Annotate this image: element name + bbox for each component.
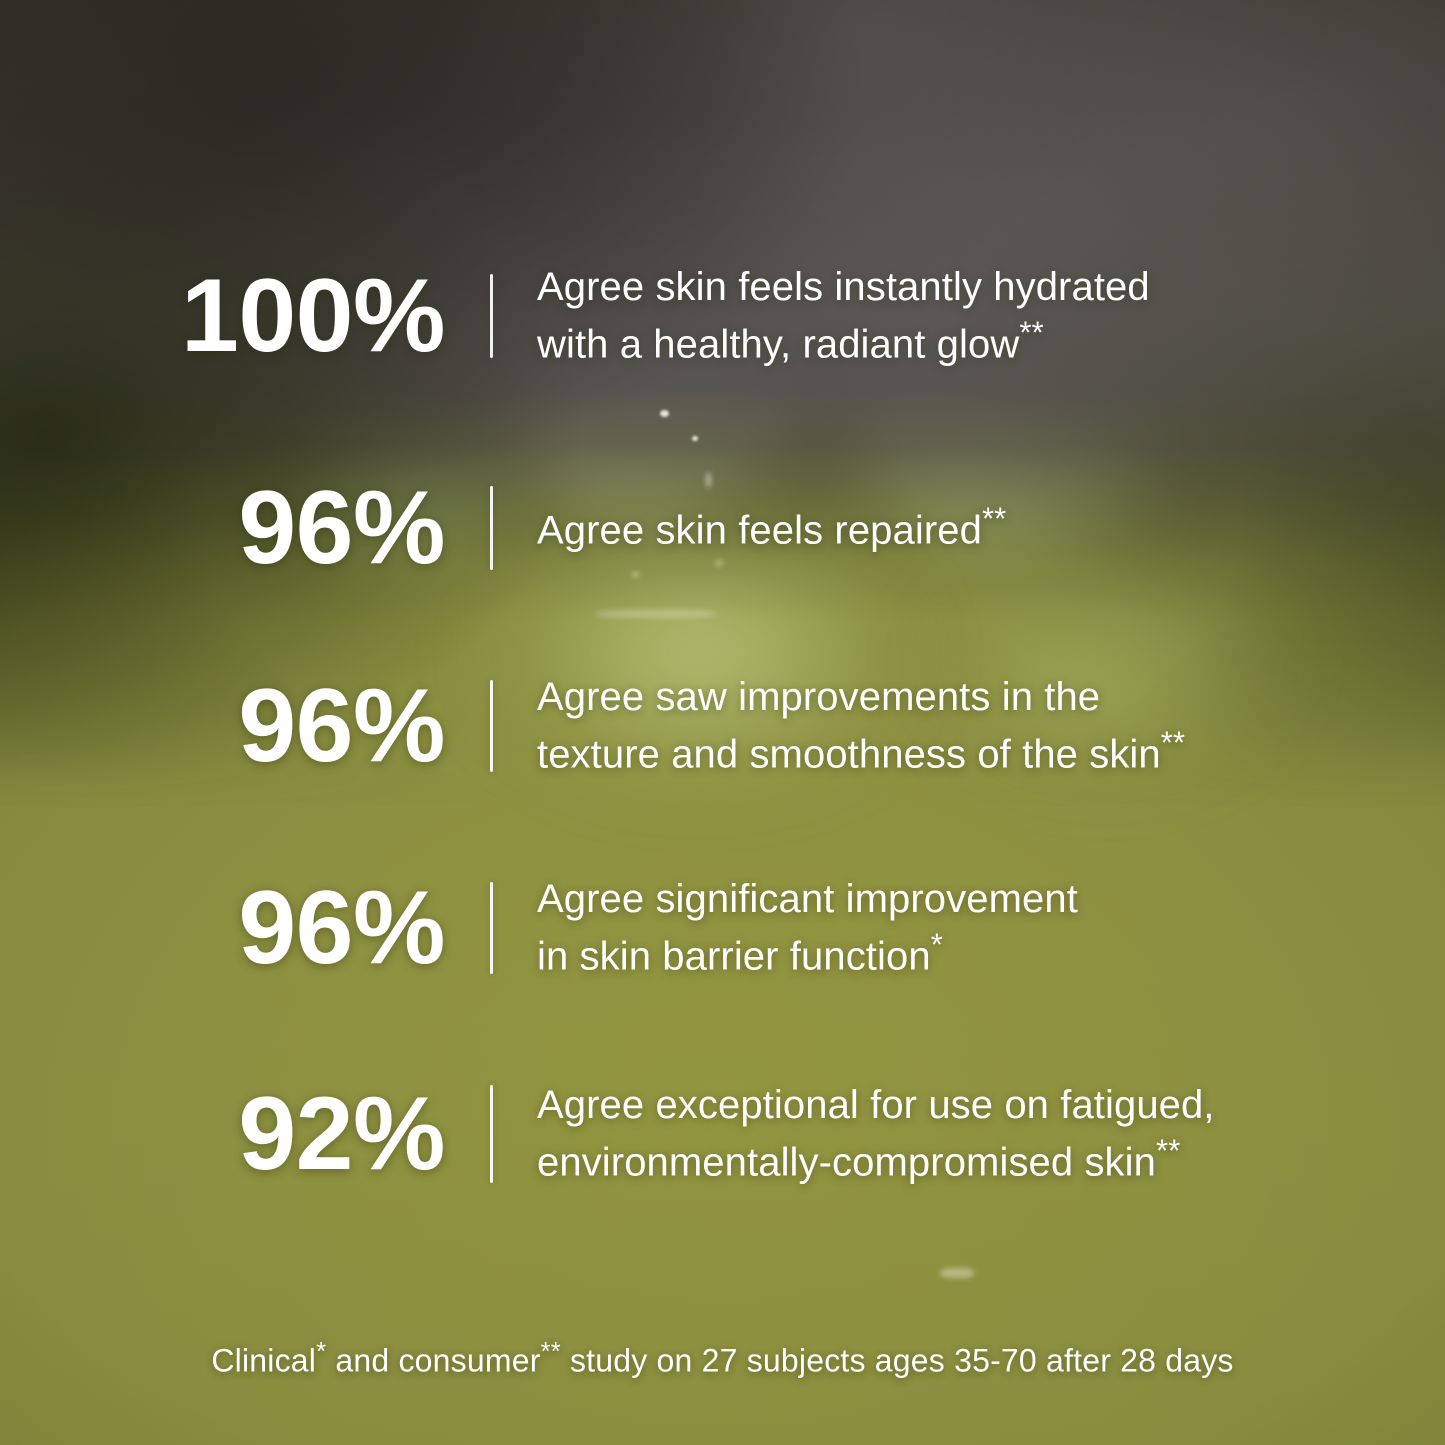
infographic-canvas: 100% Agree skin feels instantly hydrated… [0, 0, 1445, 1445]
stat-claim-text: Agree saw improvements in thetexture and… [537, 672, 1337, 781]
stat-percent-value: 92% [0, 1082, 445, 1186]
stat-percent-value: 96% [0, 476, 445, 580]
footnote-clinical-label: Clinical [211, 1342, 316, 1378]
stat-claim-line-2: environmentally-compromised skin [537, 1140, 1156, 1184]
stat-claim-footnote-marker: ** [1019, 315, 1043, 350]
stat-row: 96% Agree significant improvementin skin… [0, 874, 1445, 982]
footnote-detail-text: study on 27 subjects ages 35-70 after 28… [561, 1342, 1234, 1378]
stat-claim-line-1: Agree skin feels instantly hydrated [537, 265, 1150, 309]
stat-divider-line [490, 274, 493, 358]
stat-claim-line-1: Agree significant improvement [537, 877, 1078, 921]
stat-row: 100% Agree skin feels instantly hydrated… [0, 262, 1445, 370]
stat-claim-footnote-marker: ** [1161, 725, 1185, 760]
footnote-consumer-marker: ** [541, 1338, 561, 1366]
stat-divider-line [490, 882, 493, 974]
stat-claim-line-2: with a healthy, radiant glow [537, 322, 1019, 366]
footnote-middle-text: and consumer [326, 1342, 540, 1378]
stat-divider-line [490, 1085, 493, 1183]
footnote-clinical-marker: * [316, 1338, 326, 1366]
stat-claim-text: Agree significant improvementin skin bar… [537, 874, 1337, 983]
claims-content: 100% Agree skin feels instantly hydrated… [0, 0, 1445, 1445]
stat-divider-line [490, 486, 493, 570]
stat-claim-footnote-marker: * [931, 927, 943, 962]
stat-claim-line-1: Agree exceptional for use on fatigued, [537, 1083, 1215, 1127]
stat-divider-line [490, 680, 493, 772]
stat-percent-value: 96% [0, 876, 445, 980]
stat-claim-footnote-marker: ** [1156, 1133, 1180, 1168]
stat-claim-line-2: in skin barrier function [537, 934, 931, 978]
stat-claim-text: Agree skin feels instantly hydratedwith … [537, 262, 1337, 371]
stat-percent-value: 100% [0, 264, 445, 368]
stat-claim-line-1: Agree saw improvements in the [537, 675, 1100, 719]
stat-row: 96% Agree skin feels repaired** [0, 474, 1445, 582]
stat-claim-text: Agree exceptional for use on fatigued,en… [537, 1080, 1337, 1189]
stat-row: 96% Agree saw improvements in thetexture… [0, 672, 1445, 780]
stat-row: 92% Agree exceptional for use on fatigue… [0, 1080, 1445, 1188]
study-footnote: Clinical* and consumer** study on 27 sub… [0, 1338, 1445, 1379]
stat-claim-line-2: texture and smoothness of the skin [537, 732, 1161, 776]
stat-claim-text: Agree skin feels repaired** [537, 499, 1337, 557]
stat-claim-line-1: Agree skin feels repaired [537, 509, 982, 553]
stat-claim-footnote-marker: ** [982, 501, 1006, 536]
stat-percent-value: 96% [0, 674, 445, 778]
